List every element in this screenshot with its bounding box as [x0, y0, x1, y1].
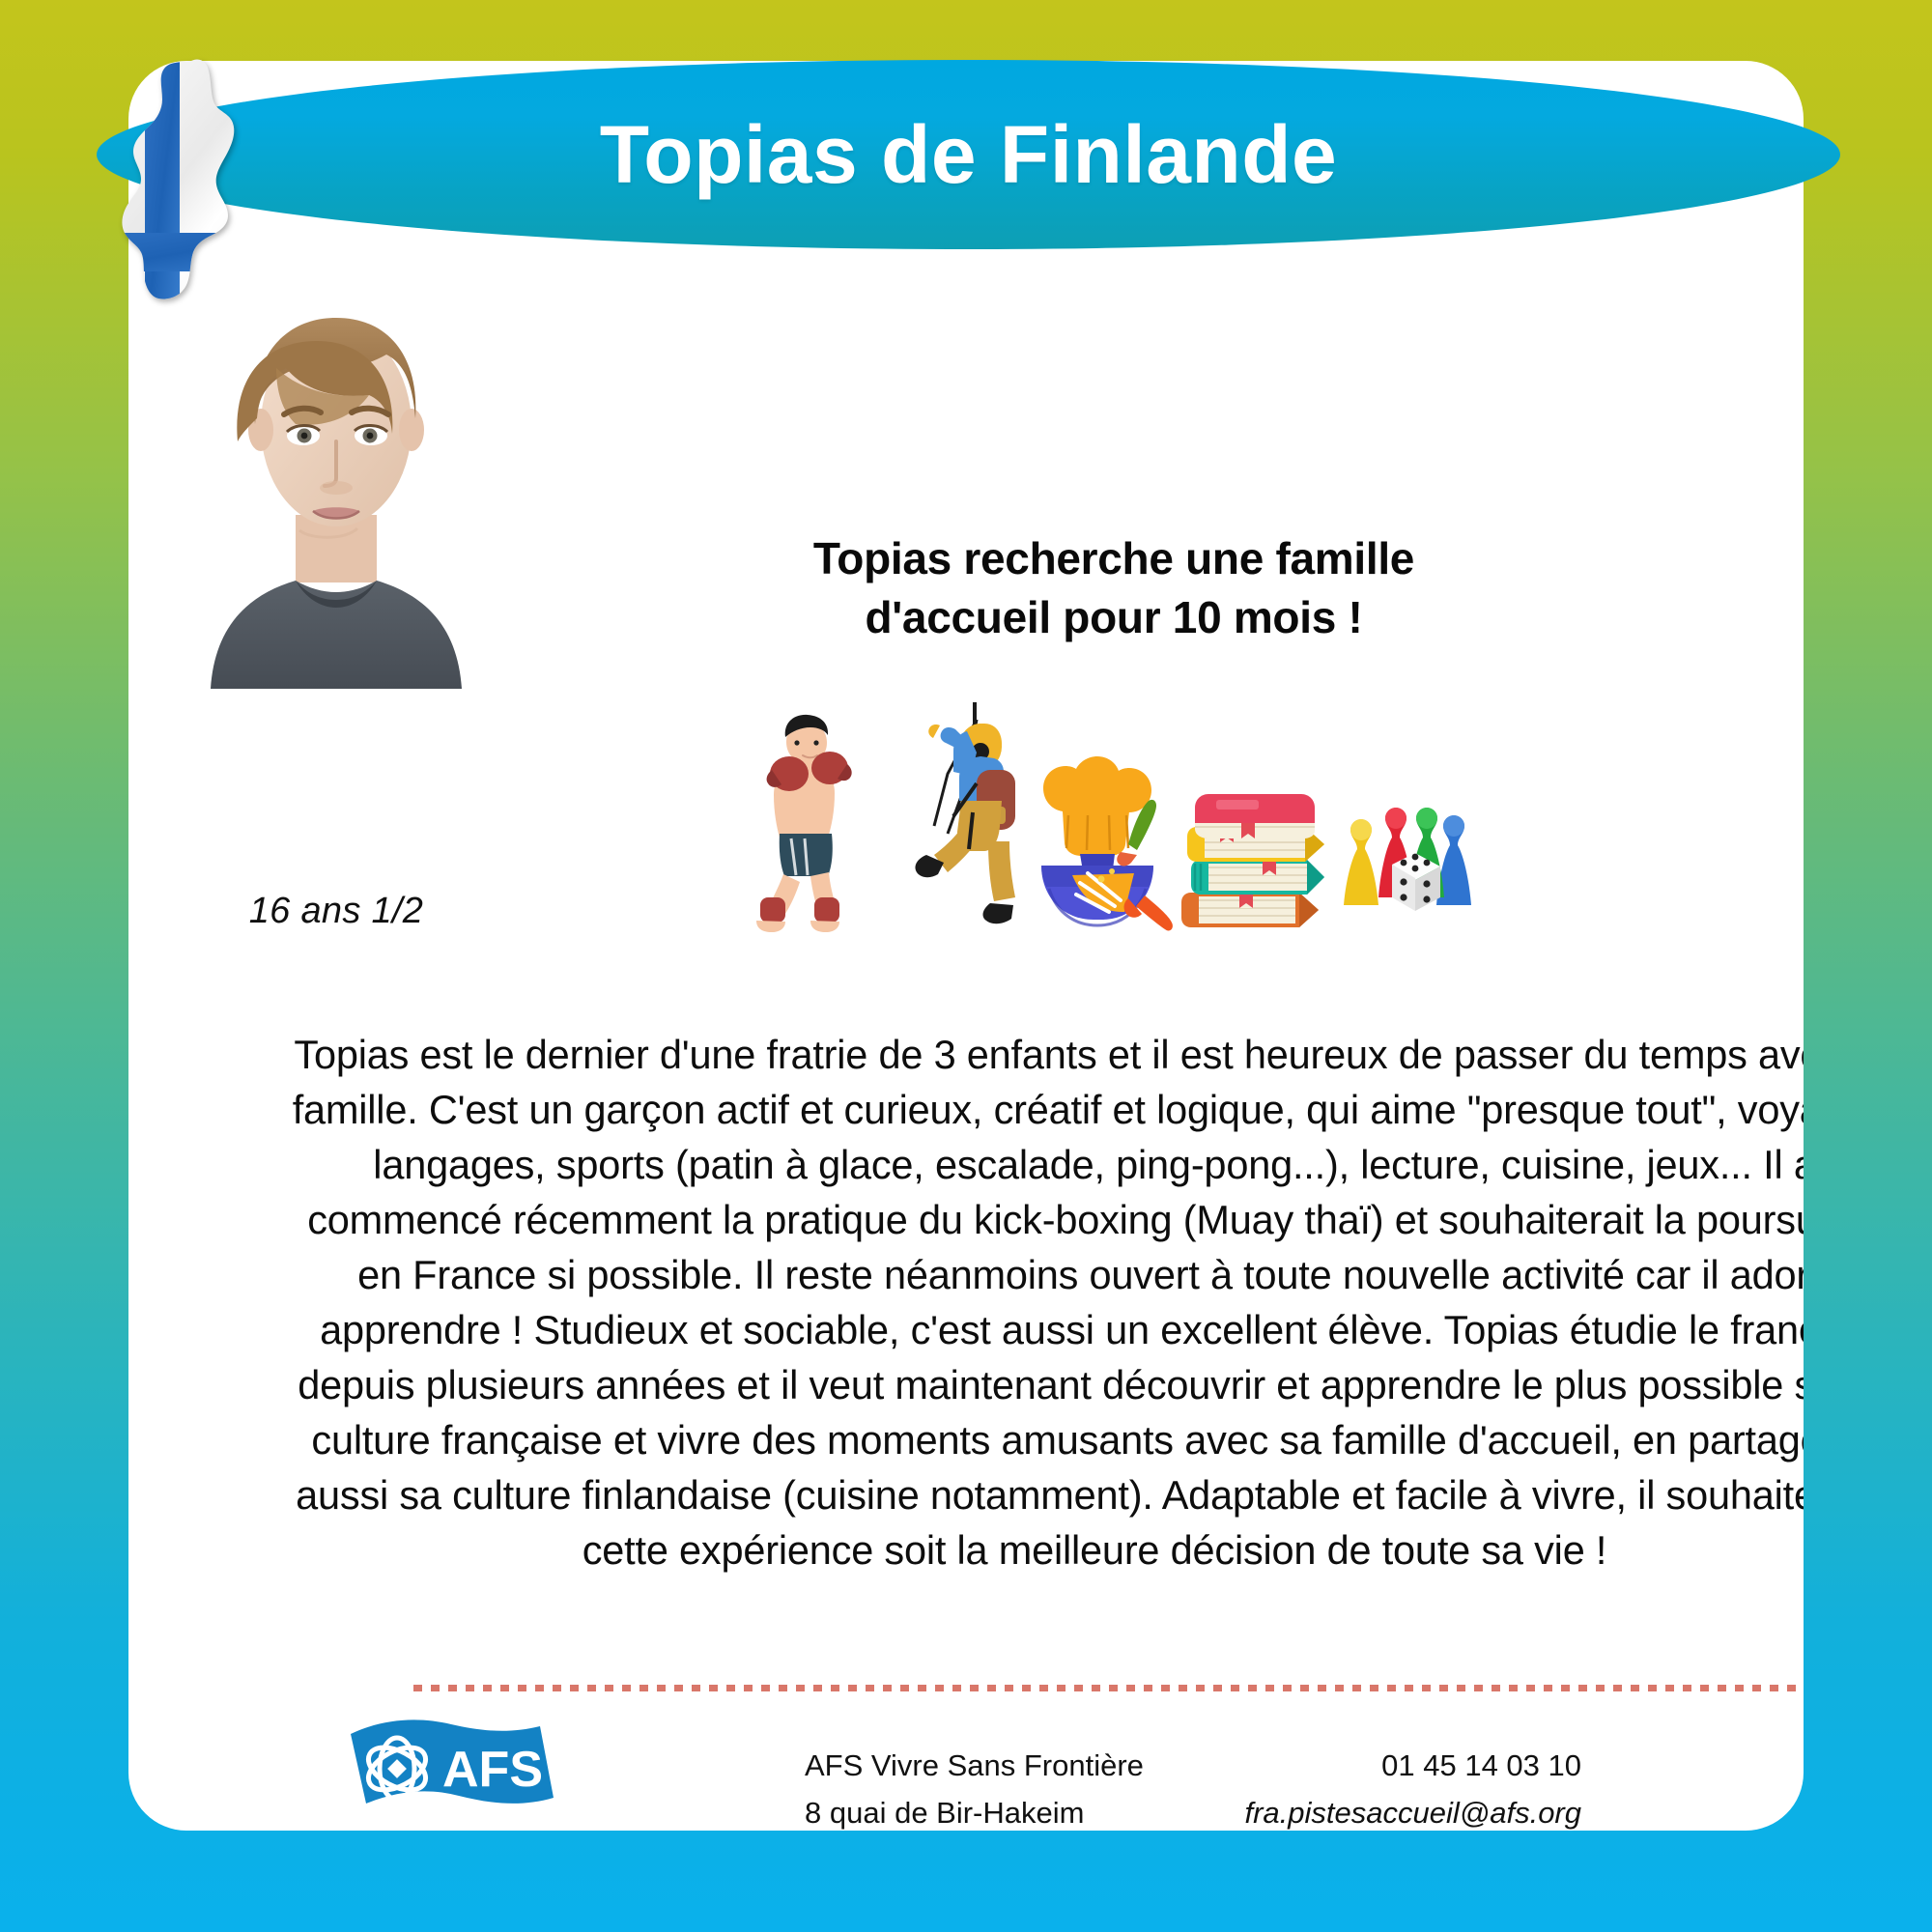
- afs-logo: AFS: [341, 1713, 563, 1831]
- cooking-icon: [1020, 752, 1175, 940]
- books-icon: [1176, 781, 1335, 940]
- email-address[interactable]: fra.pistesaccueil@afs.org: [1244, 1789, 1581, 1831]
- climbing-icon: [888, 698, 1018, 940]
- contact-block: 01 45 14 03 10 fra.pistesaccueil@afs.org…: [1244, 1742, 1581, 1831]
- address-line-2: 8 quai de Bir-Hakeim: [805, 1789, 1144, 1831]
- dotted-divider: [413, 1685, 1804, 1691]
- page-title: Topias recherche une famille d'accueil p…: [727, 529, 1500, 646]
- headline-line-2: d'accueil pour 10 mois !: [866, 592, 1363, 642]
- activity-icon-strip: [747, 684, 1491, 940]
- banner-title-text: Topias de Finlande: [97, 60, 1840, 249]
- board-game-icon: [1336, 805, 1491, 940]
- afs-logo-text: AFS: [442, 1742, 543, 1798]
- address-line-1: AFS Vivre Sans Frontière: [805, 1742, 1144, 1789]
- phone-number[interactable]: 01 45 14 03 10: [1244, 1742, 1581, 1789]
- finland-flag-map-icon: [77, 53, 299, 343]
- description-paragraph: Topias est le dernier d'une fratrie de 3…: [283, 1027, 1804, 1577]
- kick-boxing-icon: [747, 708, 887, 940]
- headline-line-1: Topias recherche une famille: [813, 533, 1414, 583]
- age-label: 16 ans 1/2: [172, 891, 500, 932]
- address-block: AFS Vivre Sans Frontière 8 quai de Bir-H…: [805, 1742, 1144, 1831]
